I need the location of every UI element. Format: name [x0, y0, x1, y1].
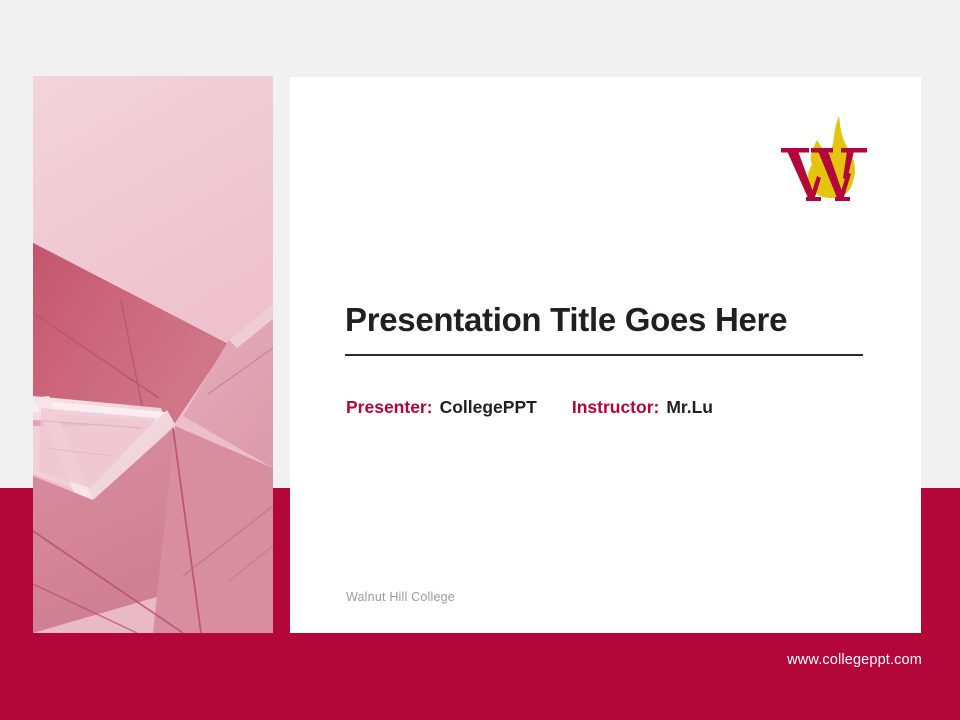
slide-body: Presentation Title Goes Here Presenter: …	[290, 77, 921, 633]
abstract-architecture-photo	[33, 76, 273, 633]
credits-row: Presenter: CollegePPT Instructor: Mr.Lu	[346, 397, 713, 418]
slide-canvas: www.collegeppt.com	[0, 0, 960, 720]
page-title: Presentation Title Goes Here	[345, 302, 865, 339]
instructor-group: Instructor: Mr.Lu	[572, 397, 713, 418]
flame-w-icon	[777, 108, 871, 208]
title-block: Presentation Title Goes Here	[345, 302, 865, 356]
slide-footer-institution: Walnut Hill College	[346, 590, 455, 604]
cover-photo-panel	[33, 76, 273, 633]
college-logo	[777, 108, 871, 208]
presenter-label: Presenter:	[346, 397, 433, 418]
presenter-value: CollegePPT	[440, 397, 537, 418]
brand-website-url[interactable]: www.collegeppt.com	[787, 652, 922, 668]
instructor-label: Instructor:	[572, 397, 660, 418]
title-divider	[345, 354, 863, 356]
instructor-value: Mr.Lu	[666, 397, 713, 418]
presenter-group: Presenter: CollegePPT	[346, 397, 537, 418]
